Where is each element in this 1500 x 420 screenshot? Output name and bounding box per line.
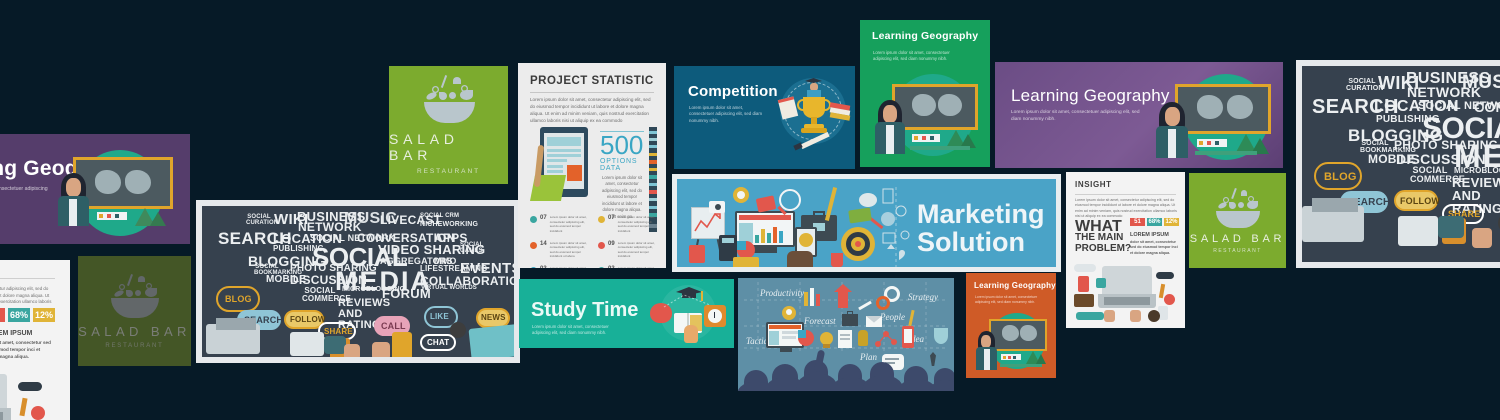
insight-right-stat-chips: 51 68% 12% [1130, 218, 1179, 226]
marketing-illustration [683, 183, 913, 271]
geography-illustration [874, 72, 982, 160]
bubble-blog: BLOG [216, 286, 260, 312]
big-number-block: 500 OPTIONS DATA Lorem ipsum dolor sit a… [600, 131, 644, 220]
bubble-label: FOLLOW [290, 315, 326, 324]
stat-dot [530, 267, 537, 268]
card-salad-bar-left[interactable]: SALAD BAR RESTAURANT [78, 256, 191, 366]
cloud-word: SOCIAL CURATION [246, 214, 272, 227]
card-salad-bar-right[interactable]: SALAD BAR RESTAURANT [1189, 173, 1286, 268]
stat-row: 03 Lorem ipsum dolor sit amet, consectet… [598, 266, 660, 268]
bubble-chat: CHAT [420, 334, 456, 351]
stat-chip: 12% [33, 308, 55, 322]
bubble-label: BLOG [225, 294, 252, 304]
stat-value: 14 [540, 241, 547, 260]
handwritten-word: Strategy [908, 292, 938, 302]
study-time-subtitle: Lorem ipsum dolor sit amet, consectetuer… [532, 324, 614, 336]
stat-chip: 68% [8, 308, 30, 322]
geography-green-title: Learning Geography [872, 30, 978, 42]
big-number: 500 [600, 134, 644, 157]
stat-text: Lorem ipsum dolor sit amet, consectetur … [618, 241, 658, 260]
card-marketing-solution[interactable]: Marketing Solution [672, 174, 1061, 272]
stat-value: 07 [608, 215, 615, 234]
salad-bowl-icon [417, 75, 481, 123]
stat-chip: 51 [1130, 218, 1145, 226]
salad-bar-right-sub: RESTAURANT [1213, 248, 1262, 254]
geography-orange-title: Learning Geography [974, 281, 1056, 290]
bubble-label: LIKE [430, 312, 449, 321]
cloud-word: SOCIAL CRM [420, 213, 459, 219]
competition-title: Competition [688, 83, 778, 100]
geography-purple-left-subtitle: Lorem ipsum dolor sit amet, consectetuer… [0, 186, 48, 201]
stat-value: 03 [608, 266, 615, 268]
insight-left-sub-body: dolor sit amet, consectetur sed do eiusm… [0, 340, 55, 361]
bubble-label: BLOG [1324, 171, 1357, 183]
stat-row: 03 Lorem ipsum dolor sit amet, consectet… [530, 266, 592, 268]
insight-left-rule [0, 278, 55, 279]
insight-left-sub-heading: LOREM IPSUM [0, 330, 32, 337]
stat-text: Lorem ipsum dolor sit amet, consectetur … [618, 215, 658, 234]
stat-text: Lorem ipsum dolor sit amet, consectetur … [550, 241, 590, 260]
stat-chip: 51 [0, 308, 5, 322]
geography-purple-wide-title: Learning Geography [1011, 86, 1170, 106]
stat-row: 07 Lorem ipsum dolor sit amet, consectet… [530, 215, 592, 234]
cloud-word: SOCIAL COMMERCE [302, 287, 338, 304]
handwritten-word: Forecast [804, 316, 836, 326]
salad-bar-top-name: SALAD BAR [389, 131, 508, 163]
stats-column-left: 07 Lorem ipsum dolor sit amet, consectet… [530, 215, 592, 268]
cloud-word: MUSIC [1462, 72, 1500, 94]
cloud-word: NICHEWORKING [420, 221, 478, 228]
stat-row: 09 Lorem ipsum dolor sit amet, consectet… [598, 241, 660, 260]
competition-subtitle: Lorem ipsum dolor sit amet, consectetuer… [689, 105, 767, 124]
handwritten-word: Plan [860, 352, 877, 362]
stat-dot [530, 216, 537, 223]
insight-right-rule [1075, 194, 1176, 195]
desk-illustration [1072, 262, 1180, 324]
study-time-title: Study Time [531, 299, 638, 322]
stat-chip: 68% [1147, 218, 1162, 226]
stat-text: Lorem ipsum dolor sit amet, consectetur … [550, 215, 590, 234]
geography-illustration [55, 146, 185, 238]
stat-text: Lorem ipsum dolor sit amet, consectetur … [550, 266, 590, 268]
card-geography-orange[interactable]: Learning Geography Lorem ipsum dolor sit… [966, 273, 1056, 378]
stat-dot [598, 242, 605, 249]
card-project-statistic[interactable]: PROJECT STATISTIC Lorem ipsum dolor sit … [518, 63, 666, 268]
salad-bar-left-name: SALAD BAR [78, 324, 191, 339]
cloud-word: PHOTO SHARING [1394, 138, 1498, 152]
card-word-cloud-center[interactable]: SOCIAL CURATION WIKI BUSINESS NETWORK MU… [196, 200, 520, 363]
bubble-blog: BLOG [1314, 162, 1362, 190]
project-statistic-title: PROJECT STATISTIC [530, 75, 654, 87]
insight-left-stat-chips: 51 68% 12% [0, 308, 55, 322]
stats-column-right: 07 Lorem ipsum dolor sit amet, consectet… [598, 215, 660, 268]
geography-illustration [976, 311, 1050, 375]
bubble-label: NEWS [481, 313, 506, 322]
salad-bar-left-sub: RESTAURANT [105, 343, 163, 349]
tablet-illustration [532, 127, 594, 203]
geography-orange-subtitle: Lorem ipsum dolor sit amet, consectetuer… [975, 295, 1039, 305]
bubble-label: FOLLOW [1400, 196, 1440, 206]
trophy-illustration [774, 72, 852, 164]
card-competition[interactable]: Competition Lorem ipsum dolor sit amet, … [674, 66, 855, 169]
stat-dot [598, 267, 605, 268]
geography-purple-wide-subtitle: Lorem ipsum dolor sit amet, consectetuer… [1011, 110, 1141, 124]
cloud-word: MICROBLOGGING [1454, 166, 1500, 175]
big-number-body: Lorem ipsum dolor sit amet, consectetur … [600, 175, 644, 221]
card-geography-purple-wide[interactable]: Learning Geography Lorem ipsum dolor sit… [995, 62, 1283, 168]
stat-text: Lorem ipsum dolor sit amet, consectetur … [618, 266, 658, 268]
salad-bowl-icon [1211, 188, 1265, 228]
marketing-title-line1: Marketing [917, 201, 1045, 229]
bubble-label: CHAT [427, 338, 449, 347]
cloud-word: SOCIAL CURATION [1346, 78, 1378, 93]
handwritten-word: Tactic [746, 336, 768, 346]
desk-illustration [0, 368, 63, 420]
cloud-word: SOCIAL COMMERCE [1410, 166, 1450, 185]
stat-value: 03 [540, 266, 547, 268]
stat-row: 14 Lorem ipsum dolor sit amet, consectet… [530, 241, 592, 260]
marketing-title-line2: Solution [917, 229, 1025, 257]
project-statistic-rule [530, 92, 654, 93]
bubble-follow: FOLLOW [1394, 190, 1438, 211]
geography-illustration [1155, 72, 1277, 166]
salad-bowl-icon [105, 274, 165, 318]
card-word-cloud-right[interactable]: SOCIAL CURATION WIKI BUSINESS NETWORK MU… [1296, 60, 1500, 268]
salad-bar-top-sub: RESTAURANT [417, 168, 480, 175]
insight-right-headline-3: PROBLEM? [1075, 244, 1131, 254]
salad-bar-right-name: SALAD BAR [1190, 233, 1285, 245]
insight-right-headline-2: THE MAIN [1075, 233, 1123, 243]
card-geography-purple-left[interactable]: Learning Geography Lorem ipsum dolor sit… [0, 134, 190, 244]
project-statistic-body: Lorem ipsum dolor sit amet, consectetur … [530, 96, 656, 124]
stat-value: 09 [608, 241, 615, 260]
cloud-word: SOCIAL GAMES [460, 242, 488, 255]
stat-value: 07 [540, 215, 547, 234]
card-study-time[interactable]: Study Time Lorem ipsum dolor sit amet, c… [519, 279, 734, 348]
card-business-people[interactable]: Productivity Forecast Strategy People Id… [738, 278, 954, 391]
insight-right-sub-heading: LOREM IPSUM [1130, 232, 1169, 238]
geography-green-subtitle: Lorem ipsum dolor sit amet, consectetuer… [873, 50, 965, 62]
insight-right-body: Lorem ipsum dolor sit amet, consectetur … [1075, 198, 1177, 220]
stat-dot [530, 242, 537, 249]
stat-dot [598, 216, 605, 223]
card-insight-left[interactable]: Lorem ipsum dolor sit amet, consectetur … [0, 260, 70, 420]
handwritten-word: People [880, 312, 905, 322]
screenshot-canvas: Learning Geography Lorem ipsum dolor sit… [0, 0, 1500, 420]
card-insight-right[interactable]: INSIGHT Lorem ipsum dolor sit amet, cons… [1066, 172, 1185, 328]
bubble-label: CALL [381, 321, 406, 331]
card-geography-green[interactable]: Learning Geography Lorem ipsum dolor sit… [860, 20, 990, 167]
card-salad-bar-top[interactable]: SALAD BAR RESTAURANT [389, 66, 508, 184]
stat-row: 07 Lorem ipsum dolor sit amet, consectet… [598, 215, 660, 234]
handwritten-word: Productivity [760, 288, 804, 298]
bubble-label: SHARE [324, 327, 353, 336]
insight-right-heading: INSIGHT [1075, 180, 1112, 189]
stat-chip: 12% [1164, 218, 1179, 226]
study-illustration [644, 281, 730, 345]
insight-right-sub-body: dolor sit amet, consectetur sed do eiusm… [1130, 240, 1178, 256]
